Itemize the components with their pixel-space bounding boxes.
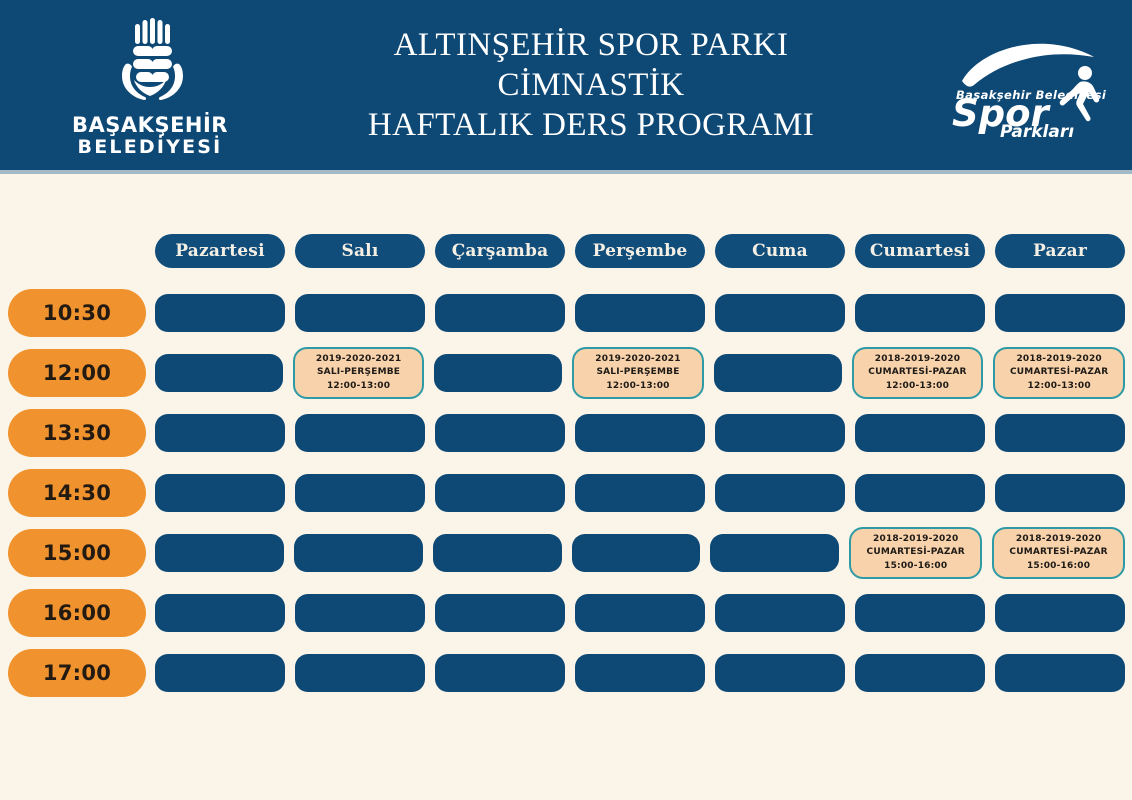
empty-slot[interactable] <box>294 534 423 572</box>
empty-slot[interactable] <box>155 594 285 632</box>
empty-slot[interactable] <box>295 594 425 632</box>
empty-slot[interactable] <box>715 654 845 692</box>
empty-slot[interactable] <box>575 414 705 452</box>
title-line-1: ALTINŞEHİR SPOR PARKI <box>280 25 902 65</box>
class-slot[interactable]: 2018-2019-2020CUMARTESİ-PAZAR15:00-16:00 <box>849 527 982 579</box>
page-title: ALTINŞEHİR SPOR PARKI CİMNASTİK HAFTALIK… <box>280 25 902 146</box>
spor-parklari-logo: Başakşehir Belediyesi Spor Parkları <box>902 0 1132 170</box>
empty-slot[interactable] <box>155 534 284 572</box>
title-line-2: CİMNASTİK <box>280 65 902 105</box>
empty-slot[interactable] <box>433 534 562 572</box>
row-cells: 2019-2020-2021SALI-PERŞEMBE12:00-13:0020… <box>155 344 1125 402</box>
empty-slot[interactable] <box>435 654 565 692</box>
class-slot-days: CUMARTESİ-PAZAR <box>867 546 965 560</box>
class-slot-years: 2018-2019-2020 <box>875 353 960 367</box>
class-slot-hours: 12:00-13:00 <box>1028 380 1091 394</box>
schedule-row: 16:00 <box>0 583 1132 643</box>
empty-slot[interactable] <box>435 294 565 332</box>
empty-slot[interactable] <box>155 414 285 452</box>
empty-slot[interactable] <box>855 294 985 332</box>
row-cells <box>155 284 1125 342</box>
schedule-row: 14:30 <box>0 463 1132 523</box>
class-slot-years: 2019-2020-2021 <box>595 353 680 367</box>
class-slot-days: CUMARTESİ-PAZAR <box>1010 366 1108 380</box>
empty-slot[interactable] <box>155 474 285 512</box>
time-label-1600[interactable]: 16:00 <box>8 589 146 637</box>
class-slot-hours: 12:00-13:00 <box>327 380 390 394</box>
title-line-3: HAFTALIK DERS PROGRAMI <box>280 105 902 145</box>
spor-parklari-line3: Parkları <box>1000 122 1074 141</box>
row-cells <box>155 404 1125 462</box>
class-slot-days: SALI-PERŞEMBE <box>317 366 400 380</box>
time-label-1200[interactable]: 12:00 <box>8 349 146 397</box>
class-slot[interactable]: 2019-2020-2021SALI-PERŞEMBE12:00-13:00 <box>293 347 425 399</box>
empty-slot[interactable] <box>855 474 985 512</box>
basaksehir-belediyesi-logo: BAŞAKŞEHİR BELEDİYESİ <box>0 0 300 170</box>
day-header--ar-amba[interactable]: Çarşamba <box>435 234 565 268</box>
day-header-row: PazartesiSalıÇarşambaPerşembeCumaCumarte… <box>155 234 1125 268</box>
class-slot-days: CUMARTESİ-PAZAR <box>868 366 966 380</box>
empty-slot[interactable] <box>715 474 845 512</box>
class-slot-hours: 12:00-13:00 <box>886 380 949 394</box>
empty-slot[interactable] <box>715 414 845 452</box>
wheat-hands-icon <box>104 18 196 110</box>
empty-slot[interactable] <box>295 474 425 512</box>
empty-slot[interactable] <box>995 594 1125 632</box>
row-cells <box>155 584 1125 642</box>
logo-left-line1: BAŞAKŞEHİR <box>72 114 228 138</box>
row-cells: 2018-2019-2020CUMARTESİ-PAZAR15:00-16:00… <box>155 524 1125 582</box>
empty-slot[interactable] <box>295 414 425 452</box>
schedule-grid: PazartesiSalıÇarşambaPerşembeCumaCumarte… <box>0 170 1132 800</box>
time-label-1030[interactable]: 10:30 <box>8 289 146 337</box>
empty-slot[interactable] <box>995 474 1125 512</box>
empty-slot[interactable] <box>295 654 425 692</box>
empty-slot[interactable] <box>155 654 285 692</box>
empty-slot[interactable] <box>575 594 705 632</box>
day-header-cuma[interactable]: Cuma <box>715 234 845 268</box>
empty-slot[interactable] <box>575 474 705 512</box>
empty-slot[interactable] <box>995 414 1125 452</box>
class-slot-years: 2018-2019-2020 <box>873 533 958 547</box>
empty-slot[interactable] <box>155 354 283 392</box>
schedule-row: 10:30 <box>0 283 1132 343</box>
empty-slot[interactable] <box>435 594 565 632</box>
empty-slot[interactable] <box>715 594 845 632</box>
empty-slot[interactable] <box>855 594 985 632</box>
empty-slot[interactable] <box>575 654 705 692</box>
time-label-1330[interactable]: 13:30 <box>8 409 146 457</box>
row-cells <box>155 644 1125 702</box>
class-slot-years: 2018-2019-2020 <box>1016 353 1101 367</box>
class-slot-days: SALI-PERŞEMBE <box>596 366 679 380</box>
empty-slot[interactable] <box>710 534 839 572</box>
time-label-1700[interactable]: 17:00 <box>8 649 146 697</box>
empty-slot[interactable] <box>435 474 565 512</box>
schedule-row: 17:00 <box>0 643 1132 703</box>
empty-slot[interactable] <box>855 414 985 452</box>
day-header-cumartesi[interactable]: Cumartesi <box>855 234 985 268</box>
logo-left-line2: BELEDİYESİ <box>72 137 228 158</box>
empty-slot[interactable] <box>575 294 705 332</box>
empty-slot[interactable] <box>714 354 842 392</box>
time-label-1500[interactable]: 15:00 <box>8 529 146 577</box>
class-slot-days: CUMARTESİ-PAZAR <box>1009 546 1107 560</box>
schedule-row: 15:002018-2019-2020CUMARTESİ-PAZAR15:00-… <box>0 523 1132 583</box>
empty-slot[interactable] <box>155 294 285 332</box>
class-slot[interactable]: 2018-2019-2020CUMARTESİ-PAZAR12:00-13:00 <box>852 347 984 399</box>
class-slot-hours: 12:00-13:00 <box>606 380 669 394</box>
time-label-1430[interactable]: 14:30 <box>8 469 146 517</box>
class-slot-hours: 15:00-16:00 <box>884 560 947 574</box>
day-header-pazartesi[interactable]: Pazartesi <box>155 234 285 268</box>
spor-parklari-swoosh-icon: Başakşehir Belediyesi Spor Parkları <box>922 29 1112 141</box>
class-slot[interactable]: 2019-2020-2021SALI-PERŞEMBE12:00-13:00 <box>572 347 704 399</box>
class-slot[interactable]: 2018-2019-2020CUMARTESİ-PAZAR15:00-16:00 <box>992 527 1125 579</box>
empty-slot[interactable] <box>295 294 425 332</box>
class-slot-years: 2018-2019-2020 <box>1016 533 1101 547</box>
class-slot-hours: 15:00-16:00 <box>1027 560 1090 574</box>
empty-slot[interactable] <box>434 354 562 392</box>
day-header-sal-[interactable]: Salı <box>295 234 425 268</box>
day-header-pazar[interactable]: Pazar <box>995 234 1125 268</box>
schedule-row: 13:30 <box>0 403 1132 463</box>
empty-slot[interactable] <box>855 654 985 692</box>
row-cells <box>155 464 1125 522</box>
empty-slot[interactable] <box>572 534 701 572</box>
empty-slot[interactable] <box>435 414 565 452</box>
empty-slot[interactable] <box>995 294 1125 332</box>
empty-slot[interactable] <box>995 654 1125 692</box>
schedule-rows: 10:3012:002019-2020-2021SALI-PERŞEMBE12:… <box>0 283 1132 703</box>
empty-slot[interactable] <box>715 294 845 332</box>
class-slot-years: 2019-2020-2021 <box>316 353 401 367</box>
page-header: BAŞAKŞEHİR BELEDİYESİ ALTINŞEHİR SPOR PA… <box>0 0 1132 170</box>
class-slot[interactable]: 2018-2019-2020CUMARTESİ-PAZAR12:00-13:00 <box>993 347 1125 399</box>
schedule-row: 12:002019-2020-2021SALI-PERŞEMBE12:00-13… <box>0 343 1132 403</box>
day-header-per-embe[interactable]: Perşembe <box>575 234 705 268</box>
